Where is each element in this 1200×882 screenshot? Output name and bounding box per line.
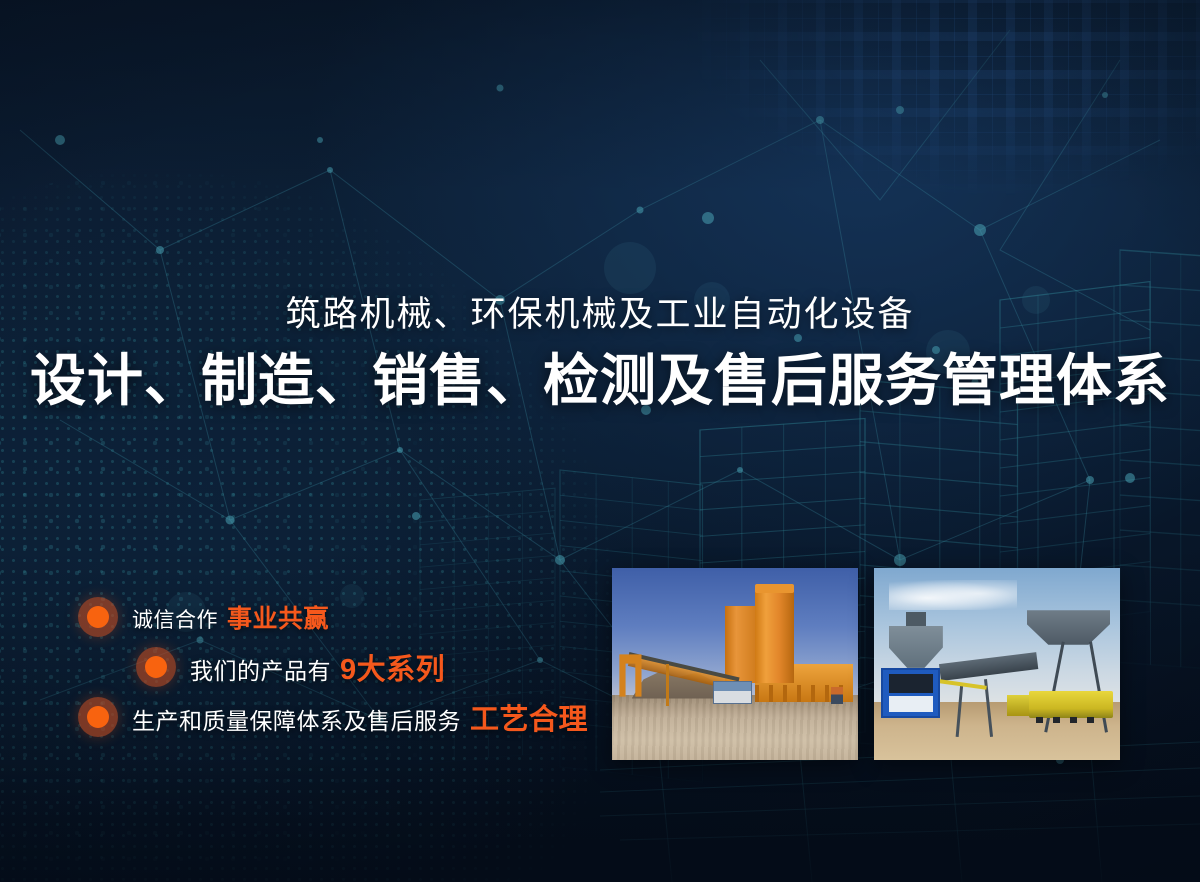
- feature-text-2: 我们的产品有 9大系列: [190, 646, 445, 688]
- feature-plain-3: 生产和质量保障体系及售后服务: [132, 702, 461, 736]
- photo1-cement-silo: [755, 591, 794, 683]
- photo1-ground: [612, 695, 858, 760]
- photo2-clouds: [889, 580, 1017, 611]
- feature-text-1: 诚信合作 事业共赢: [132, 599, 329, 635]
- photo2-control-cabin: [881, 668, 940, 718]
- feature-plain-2: 我们的产品有: [190, 652, 331, 686]
- bullet-dot-icon: [136, 647, 176, 687]
- photo1-control-cabin: [713, 681, 752, 704]
- mobile-batching-plant-photo: [874, 568, 1120, 760]
- promo-banner: 筑路机械、环保机械及工业自动化设备 设计、制造、销售、检测及售后服务管理体系 诚…: [0, 0, 1200, 882]
- feature-item-1: 诚信合作 事业共赢: [78, 592, 598, 642]
- heading-block: 筑路机械、环保机械及工业自动化设备 设计、制造、销售、检测及售后服务管理体系: [0, 295, 1200, 414]
- feature-item-3: 生产和质量保障体系及售后服务 工艺合理: [78, 692, 598, 742]
- feature-text-3: 生产和质量保障体系及售后服务 工艺合理: [132, 696, 588, 738]
- banner-subtitle: 筑路机械、环保机械及工业自动化设备: [0, 295, 1200, 335]
- feature-item-2: 我们的产品有 9大系列: [136, 642, 598, 692]
- feature-highlight-3: 工艺合理: [470, 696, 588, 738]
- photo-gallery: [612, 568, 1120, 760]
- bullet-dot-icon: [78, 597, 118, 637]
- photo1-worker: [831, 687, 843, 704]
- banner-title: 设计、制造、销售、检测及售后服务管理体系: [0, 349, 1200, 413]
- photo2-hopper-vent: [906, 612, 926, 627]
- concrete-batching-plant-photo: [612, 568, 858, 760]
- feature-plain-1: 诚信合作: [132, 604, 218, 634]
- photo1-support-post: [666, 664, 669, 706]
- photo1-cement-silo-rear: [725, 606, 757, 683]
- photo2-crane-truck: [1029, 691, 1113, 718]
- feature-highlight-2: 9大系列: [340, 646, 445, 688]
- bullet-dot-icon: [78, 697, 118, 737]
- feature-highlight-1: 事业共赢: [227, 599, 329, 635]
- feature-list: 诚信合作 事业共赢 我们的产品有 9大系列 生产和质量保障体系及售后服务 工艺合…: [78, 592, 598, 742]
